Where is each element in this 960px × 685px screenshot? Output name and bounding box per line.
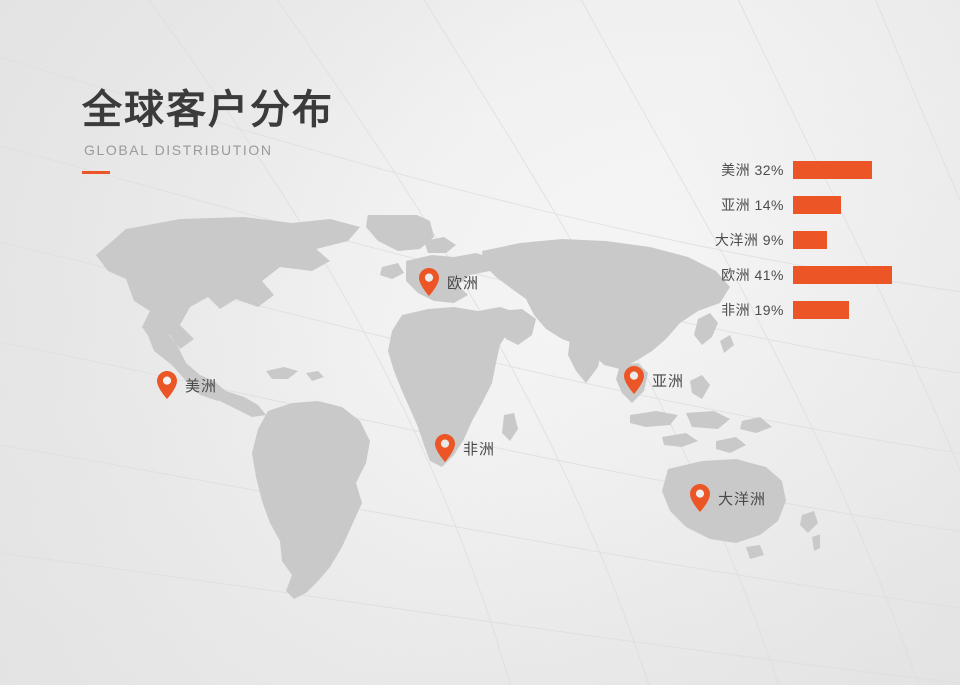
chart-bar-track [793, 222, 915, 257]
map-pin-icon [689, 483, 711, 513]
distribution-bar-chart: 美洲 32% 亚洲 14% 大洋洲 9% 欧洲 41% 非洲 19% [700, 152, 915, 327]
chart-row: 欧洲 41% [700, 257, 915, 292]
chart-row: 大洋洲 9% [700, 222, 915, 257]
chart-row-label: 欧洲 41% [700, 265, 793, 285]
chart-row-label: 大洋洲 9% [700, 230, 793, 250]
chart-bar [793, 196, 841, 214]
title-accent-rule [82, 171, 110, 174]
chart-bar [793, 266, 892, 284]
map-marker-africa[interactable]: 非洲 [434, 433, 495, 463]
map-marker-americas[interactable]: 美洲 [156, 370, 217, 400]
chart-row: 亚洲 14% [700, 187, 915, 222]
chart-row-label: 非洲 19% [700, 300, 793, 320]
map-marker-label: 美洲 [185, 375, 217, 396]
map-pin-icon [156, 370, 178, 400]
chart-bar-track [793, 187, 915, 222]
map-marker-label: 亚洲 [652, 370, 684, 391]
map-marker-europe[interactable]: 欧洲 [418, 267, 479, 297]
map-marker-label: 大洋洲 [718, 488, 766, 509]
map-marker-label: 欧洲 [447, 272, 479, 293]
chart-bar-track [793, 292, 915, 327]
chart-bar-track [793, 257, 915, 292]
chart-bar [793, 161, 872, 179]
chart-row-label: 美洲 32% [700, 160, 793, 180]
map-pin-icon [623, 365, 645, 395]
map-pin-icon [434, 433, 456, 463]
map-marker-asia[interactable]: 亚洲 [623, 365, 684, 395]
page-title: 全球客户分布 [82, 88, 334, 132]
map-marker-label: 非洲 [463, 438, 495, 459]
map-marker-oceania[interactable]: 大洋洲 [689, 483, 766, 513]
chart-row: 非洲 19% [700, 292, 915, 327]
chart-bar [793, 301, 849, 319]
title-block: 全球客户分布 GLOBAL DISTRIBUTION [82, 88, 334, 174]
chart-bar-track [793, 152, 915, 187]
map-pin-icon [418, 267, 440, 297]
chart-row-label: 亚洲 14% [700, 195, 793, 215]
chart-bar [793, 231, 827, 249]
chart-row: 美洲 32% [700, 152, 915, 187]
page-subtitle: GLOBAL DISTRIBUTION [84, 142, 334, 158]
slide-canvas: 全球客户分布 GLOBAL DISTRIBUTION [0, 0, 960, 685]
